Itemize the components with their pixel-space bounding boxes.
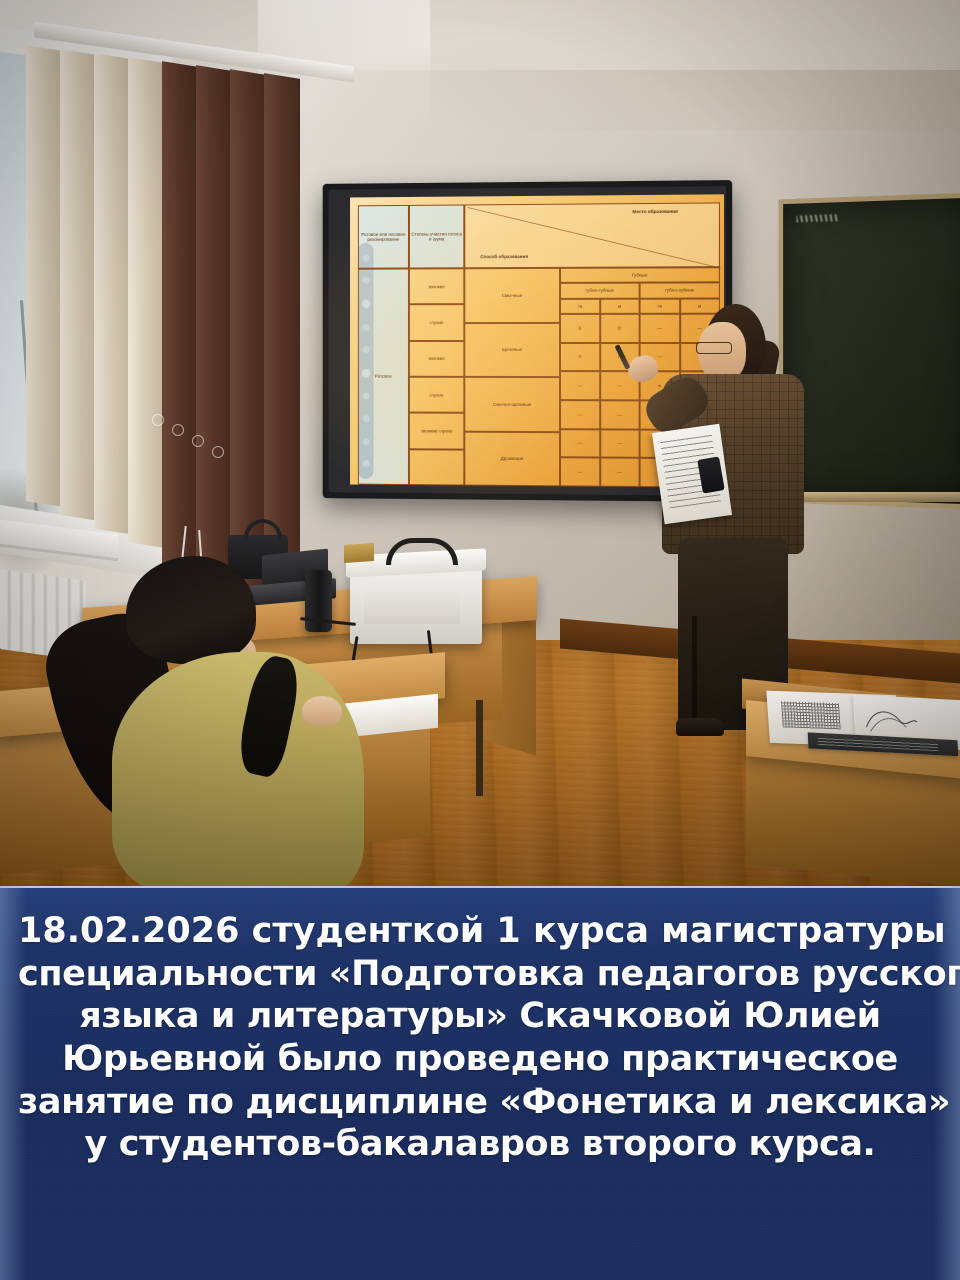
table-row: Смычно-щелевые <box>464 377 560 432</box>
table-row: звонкие <box>409 341 464 377</box>
table-header-voice-degree: Степень участия голоса и шума <box>409 204 464 268</box>
chalk-writing <box>796 214 838 222</box>
student-sweater <box>112 652 364 886</box>
blind-slat <box>128 57 164 548</box>
caption-line: языка и литературы» Скачковой Юлией <box>18 995 942 1038</box>
table-cell: — <box>560 371 600 400</box>
presenter-figure <box>640 300 830 748</box>
blind-slat <box>94 53 130 534</box>
caption-line: занятие по дисциплине «Фонетика и лексик… <box>18 1081 942 1124</box>
blind-chain-link <box>212 446 224 458</box>
worksheet-grid <box>781 701 841 729</box>
table-header-resonance: Ротовое или носовое резонирование <box>358 205 409 269</box>
caption-panel: 18.02.2026 студенткой 1 курса магистрату… <box>0 886 960 1280</box>
trouser-seam <box>692 616 697 728</box>
blind-slat <box>162 61 198 572</box>
table-cell: — <box>600 458 640 487</box>
table-header-labial: Губные <box>560 267 720 283</box>
table-header-bilabial: губно-губные <box>560 283 640 299</box>
screenshot-root: Ротовое или носовое резонирование Степен… <box>0 0 960 1280</box>
table-header-diagonal: Место образования Способ образования <box>464 202 720 268</box>
table-header-hard: тв <box>560 298 600 313</box>
table-row: звонкие <box>409 268 464 304</box>
caption-line: 18.02.2026 студенткой 1 курса магистрату… <box>18 910 942 953</box>
blind-chain-link <box>192 435 204 447</box>
label-place-of-articulation: Место образования <box>632 209 677 215</box>
table-cell: — <box>600 400 640 429</box>
ceiling-corner-shadow <box>430 0 960 130</box>
table-row: Смычные <box>464 268 560 323</box>
blind-slat <box>230 69 266 593</box>
blind-slat <box>60 49 96 520</box>
caption-line: специальности «Подготовка педагогов русс… <box>18 953 942 996</box>
caption-line: Юрьевной было проведено практическое <box>18 1038 942 1081</box>
table-cell: — <box>560 429 600 458</box>
vertical-blinds[interactable] <box>20 26 320 546</box>
table-cell: — <box>600 429 640 458</box>
table-row: звонкие глухие <box>409 413 464 449</box>
classroom-photo: Ротовое или носовое резонирование Степен… <box>0 0 960 886</box>
table-cell: б' <box>600 314 640 343</box>
label-manner-of-articulation: Способ образования <box>480 254 528 260</box>
table-row: Щелевые <box>464 322 560 377</box>
presenter-shoe <box>676 718 724 736</box>
caption-text: 18.02.2026 студенткой 1 курса магистрату… <box>0 910 960 1166</box>
glasses-icon <box>696 342 732 354</box>
table-manner-column: Смычные Щелевые Смычно-щелевые Дрожащие <box>464 268 560 486</box>
caption-line: у студентов-бакалавров второго курса. <box>18 1123 942 1166</box>
table-row: глухие <box>409 377 464 413</box>
table-subgroup-row: губно-губные губно-зубные <box>560 283 720 299</box>
blind-slat <box>196 65 232 583</box>
student-hand <box>302 696 342 726</box>
table-row: глухие <box>409 304 464 340</box>
diagram-sketch-icon <box>859 701 921 738</box>
table-voicing-column: звонкие глухие звонкие глухие звонкие гл… <box>409 268 464 485</box>
table-cell-oral: Ротовое <box>358 268 409 485</box>
student-figure <box>66 556 386 886</box>
table-cell: п <box>560 343 600 372</box>
diagonal-divider-icon <box>467 205 721 269</box>
table-cell: — <box>560 458 600 487</box>
table-cell: — <box>560 400 600 429</box>
blind-chain-link <box>152 414 164 426</box>
desk-leg <box>476 700 483 796</box>
table-row: Дрожащие <box>464 431 560 486</box>
student-head <box>126 556 256 664</box>
table-cell: б <box>560 314 600 343</box>
blind-chain-link <box>172 424 184 436</box>
table-header-soft: м <box>600 298 640 313</box>
blind-slat <box>26 45 62 507</box>
table-header-labiodental: губно-зубные <box>640 283 720 299</box>
table-row <box>409 449 464 486</box>
